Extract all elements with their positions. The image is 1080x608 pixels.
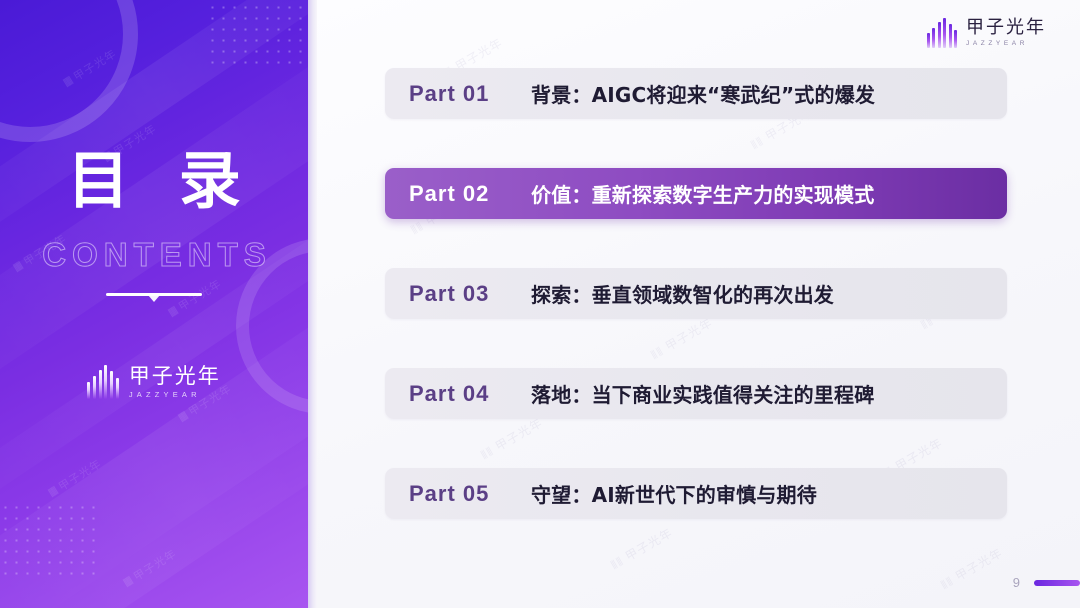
watermark-logo: ⦀⦀ 甲子光年: [45, 455, 104, 500]
page-accent-bar: [1034, 580, 1080, 586]
brand-name-cn: 甲子光年: [966, 19, 1046, 38]
content-panel: ⦀⦀ 甲子光年 ⦀⦀ 甲子光年 ⦀⦀ 甲子光年 ⦀⦀ 甲子光年 ⦀⦀ 甲子光年 …: [317, 0, 1080, 608]
toc-item-part-04[interactable]: Part 04 落地：当下商业实践值得关注的里程碑: [385, 368, 1007, 419]
brand-bars-icon: [87, 365, 119, 399]
toc-part-label: Part 02: [409, 181, 531, 207]
brand-logo-header: 甲子光年 JAZZYEAR: [927, 18, 1047, 48]
toc-item-part-02[interactable]: Part 02 价值：重新探索数字生产力的实现模式: [385, 168, 1007, 219]
brand-name-en: JAZZYEAR: [129, 390, 221, 399]
page-title-en: CONTENTS: [0, 238, 308, 271]
brand-bars-icon: [927, 18, 958, 48]
brand-name-cn: 甲子光年: [129, 365, 221, 387]
toc-item-part-03[interactable]: Part 03 探索：垂直领域数智化的再次出发: [385, 268, 1007, 319]
toc-part-label: Part 05: [409, 481, 531, 507]
contents-heading-block: 目 录 CONTENTS: [0, 150, 308, 309]
toc-item-part-01[interactable]: Part 01 背景：AIGC将迎来“寒武纪”式的爆发: [385, 68, 1007, 119]
decorative-ring: [0, 0, 138, 142]
panel-edge-strip: [308, 0, 317, 608]
toc-item-part-05[interactable]: Part 05 守望：AI新世代下的审慎与期待: [385, 468, 1007, 519]
brand-text: 甲子光年 JAZZYEAR: [129, 365, 221, 399]
toc-part-label: Part 03: [409, 281, 531, 307]
page-footer: 9: [1013, 575, 1080, 590]
title-divider: [0, 293, 308, 309]
watermark-logo: ⦀⦀ 甲子光年: [120, 545, 179, 590]
toc-item-title: 探索：垂直领域数智化的再次出发: [531, 279, 834, 308]
toc-item-title: 背景：AIGC将迎来“寒武纪”式的爆发: [531, 79, 875, 108]
toc-item-title: 守望：AI新世代下的审慎与期待: [531, 479, 817, 508]
watermark-logo: ⦀⦀ 甲子光年: [60, 45, 119, 90]
toc-part-label: Part 01: [409, 81, 531, 107]
watermark-logo: ⦀⦀ 甲子光年: [937, 544, 1005, 593]
slide-root: ⦀⦀ 甲子光年 ⦀⦀ 甲子光年 ⦀⦀ 甲子光年 ⦀⦀ 甲子光年 ⦀⦀ 甲子光年 …: [0, 0, 1080, 608]
toc-item-title: 价值：重新探索数字生产力的实现模式: [531, 179, 874, 208]
page-number: 9: [1013, 575, 1020, 590]
decorative-dot-grid: [0, 502, 100, 578]
watermark-logo: ⦀⦀ 甲子光年: [607, 524, 675, 573]
toc-item-title: 落地：当下商业实践值得关注的里程碑: [531, 379, 874, 408]
brand-name-en: JAZZYEAR: [966, 40, 1046, 47]
decorative-dot-grid: [207, 2, 308, 64]
brand-text: 甲子光年 JAZZYEAR: [966, 19, 1046, 48]
table-of-contents: Part 01 背景：AIGC将迎来“寒武纪”式的爆发 Part 02 价值：重…: [385, 68, 1007, 519]
decorative-sweep: [0, 364, 308, 608]
toc-part-label: Part 04: [409, 381, 531, 407]
brand-logo-left: 甲子光年 JAZZYEAR: [0, 365, 308, 399]
page-title: 目 录: [0, 150, 308, 212]
title-panel: ⦀⦀ 甲子光年 ⦀⦀ 甲子光年 ⦀⦀ 甲子光年 ⦀⦀ 甲子光年 ⦀⦀ 甲子光年 …: [0, 0, 308, 608]
chevron-down-icon: [148, 295, 160, 302]
